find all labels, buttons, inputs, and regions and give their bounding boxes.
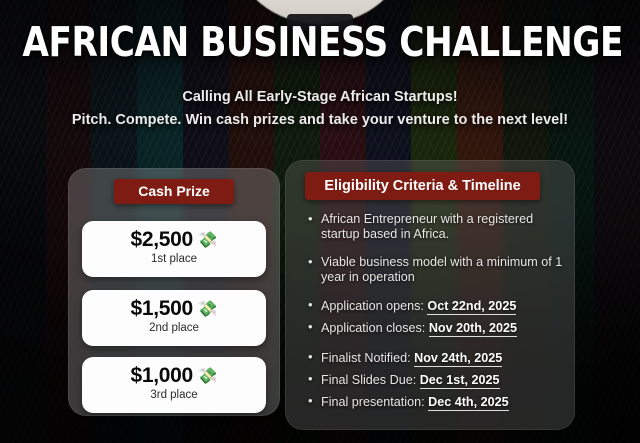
timeline-spacer: [307, 342, 563, 350]
timeline-item: Application opens: Oct 22nd, 2025: [307, 298, 563, 314]
eligibility-badge: Eligibility Criteria & Timeline: [305, 172, 540, 200]
prize-card: $2,500 💸 1st place: [82, 221, 266, 277]
timeline-item: Final Slides Due: Dec 1st, 2025: [307, 372, 563, 388]
timeline-label: Final presentation:: [321, 395, 425, 409]
prize-place-label: 2nd place: [82, 322, 266, 334]
timeline-date: Nov 20th, 2025: [429, 321, 517, 337]
timeline-date: Dec 1st, 2025: [420, 373, 500, 389]
page-title: AFRICAN BUSINESS CHALLENGE: [22, 22, 617, 63]
eligibility-criterion: Viable business model with a minimum of …: [307, 255, 563, 285]
promotional-poster: AFRICAN BUSINESS CHALLENGE Calling All E…: [0, 0, 640, 443]
prize-place-label: 3rd place: [82, 389, 266, 401]
eligibility-timeline-panel: Eligibility Criteria & Timeline African …: [285, 160, 575, 430]
timeline-date: Oct 22nd, 2025: [427, 299, 516, 315]
money-with-wings-icon: 💸: [198, 366, 218, 386]
subtitle-line-2: Pitch. Compete. Win cash prizes and take…: [0, 112, 640, 128]
prize-place-label: 1st place: [82, 253, 266, 265]
timeline-date: Dec 4th, 2025: [428, 395, 509, 411]
timeline-label: Finalist Notified:: [321, 351, 411, 365]
prize-amount-value: $1,500: [130, 297, 192, 321]
prize-card: $1,500 💸 2nd place: [82, 290, 266, 346]
eligibility-list: African Entrepreneur with a registered s…: [307, 212, 563, 416]
timeline-item: Application closes: Nov 20th, 2025: [307, 320, 563, 336]
timeline-item: Final presentation: Dec 4th, 2025: [307, 394, 563, 410]
prize-amount-row: $2,500 💸: [82, 228, 266, 252]
eligibility-criterion: African Entrepreneur with a registered s…: [307, 212, 563, 242]
timeline-label: Application opens:: [321, 299, 424, 313]
timeline-label: Application closes:: [321, 321, 425, 335]
prize-amount-value: $1,000: [130, 364, 192, 388]
prize-amount-row: $1,000 💸: [82, 364, 266, 388]
timeline-label: Final Slides Due:: [321, 373, 416, 387]
cash-prize-badge: Cash Prize: [114, 179, 234, 204]
subtitle-line-1: Calling All Early-Stage African Startups…: [0, 89, 640, 105]
timeline-date: Nov 24th, 2025: [414, 351, 502, 367]
prize-amount-row: $1,500 💸: [82, 297, 266, 321]
money-with-wings-icon: 💸: [198, 299, 218, 319]
prize-amount-value: $2,500: [130, 228, 192, 252]
money-with-wings-icon: 💸: [198, 230, 218, 250]
cash-prize-panel: Cash Prize $2,500 💸 1st place $1,500 💸 2…: [68, 168, 280, 416]
timeline-item: Finalist Notified: Nov 24th, 2025: [307, 350, 563, 366]
prize-card: $1,000 💸 3rd place: [82, 357, 266, 413]
